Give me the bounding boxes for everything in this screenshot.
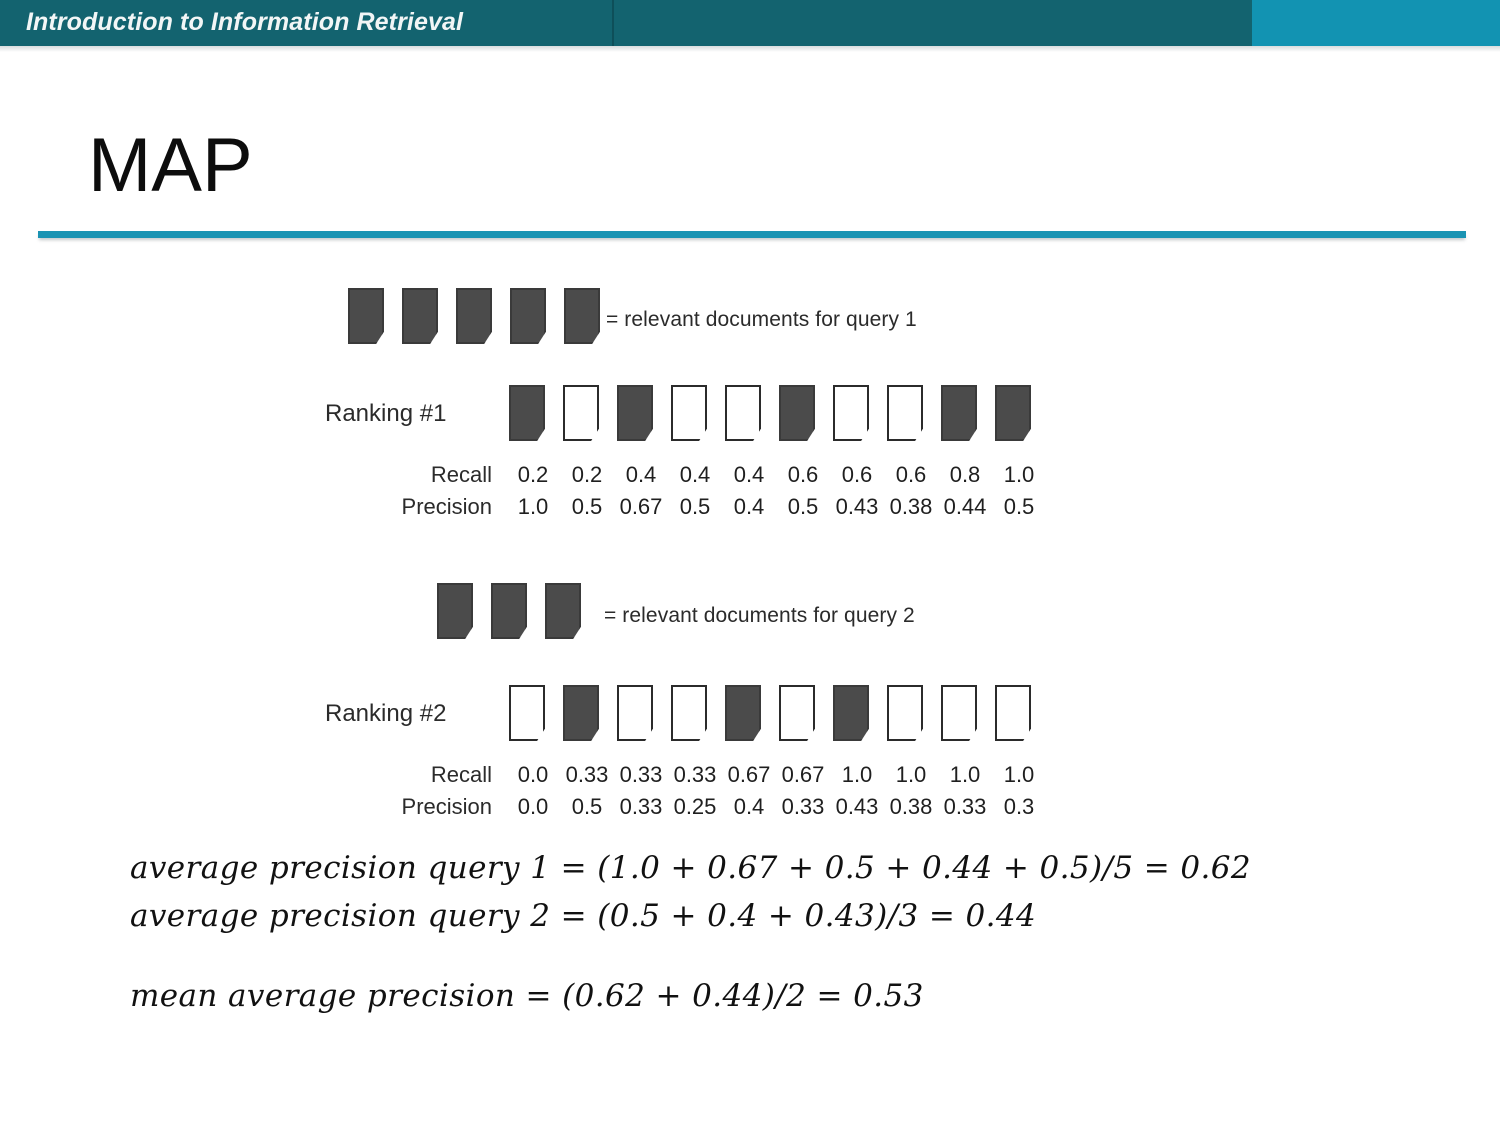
ranking1-recall-label: Recall — [310, 462, 506, 488]
ranking1-precision-value: 0.67 — [614, 494, 668, 520]
ranking1-recall-value: 0.2 — [560, 462, 614, 488]
relevant-document-icon — [437, 583, 473, 639]
ranked-document-icon-empty — [887, 685, 923, 741]
ranking2-precision-value: 0.25 — [668, 794, 722, 820]
ranking2-precision-value: 0.33 — [938, 794, 992, 820]
ranking1-precision-value: 0.38 — [884, 494, 938, 520]
ranking2-label: Ranking #2 — [325, 700, 446, 728]
ranking2-recall-value: 1.0 — [938, 762, 992, 788]
ranking1-precision-value: 0.5 — [560, 494, 614, 520]
ranking2-recall-row: Recall 0.00.330.330.330.670.671.01.01.01… — [310, 762, 1046, 788]
ranking1-recall-value: 0.6 — [830, 462, 884, 488]
ranked-document-icon-empty — [671, 385, 707, 441]
ranking2-recall-value: 0.67 — [722, 762, 776, 788]
ranking1-precision-value: 0.5 — [992, 494, 1046, 520]
relevant-document-icon — [456, 288, 492, 344]
ranking2-precision-value: 0.33 — [614, 794, 668, 820]
ranked-document-icon-filled — [995, 385, 1031, 441]
ranked-document-icon-empty — [779, 685, 815, 741]
formula-average-precision-query1: average precision query 1 = (1.0 + 0.67 … — [130, 850, 1251, 886]
ranking1-recall-value: 0.4 — [614, 462, 668, 488]
ranked-document-icon-empty — [671, 685, 707, 741]
ranking1-recall-row: Recall 0.20.20.40.40.40.60.60.60.81.0 — [310, 462, 1046, 488]
formula-average-precision-query2: average precision query 2 = (0.5 + 0.4 +… — [130, 898, 1036, 934]
ranked-document-icon-empty — [941, 685, 977, 741]
ranking1-precision-value: 0.4 — [722, 494, 776, 520]
ranked-document-icon-filled — [725, 685, 761, 741]
ranking1-precision-value: 0.5 — [668, 494, 722, 520]
ranked-document-icon-filled — [563, 685, 599, 741]
ranking1-recall-value: 0.6 — [776, 462, 830, 488]
ranked-document-icon-empty — [617, 685, 653, 741]
ranking2-recall-value: 0.33 — [614, 762, 668, 788]
ranking1-precision-row: Precision 1.00.50.670.50.40.50.430.380.4… — [310, 494, 1046, 520]
relevant-document-icon — [564, 288, 600, 344]
ranking2-precision-row: Precision 0.00.50.330.250.40.330.430.380… — [310, 794, 1046, 820]
legend-query2-documents — [437, 583, 581, 639]
ranking2-recall-value: 0.67 — [776, 762, 830, 788]
ranking1-precision-label: Precision — [310, 494, 506, 520]
relevant-document-icon — [402, 288, 438, 344]
ranked-document-icon-filled — [941, 385, 977, 441]
ranking1-recall-value: 0.2 — [506, 462, 560, 488]
ranking2-recall-value: 0.33 — [668, 762, 722, 788]
ranking2-precision-value: 0.0 — [506, 794, 560, 820]
ranking2-recall-value: 0.33 — [560, 762, 614, 788]
formula-mean-average-precision: mean average precision = (0.62 + 0.44)/2… — [130, 978, 924, 1014]
ranking1-recall-value: 0.4 — [722, 462, 776, 488]
relevant-document-icon — [545, 583, 581, 639]
ranking2-precision-value: 0.3 — [992, 794, 1046, 820]
ranking1-precision-value: 1.0 — [506, 494, 560, 520]
ranking1-precision-value: 0.43 — [830, 494, 884, 520]
relevant-document-icon — [491, 583, 527, 639]
ranked-document-icon-filled — [779, 385, 815, 441]
ranking2-precision-value: 0.4 — [722, 794, 776, 820]
ranking1-precision-value: 0.44 — [938, 494, 992, 520]
ranking2-precision-value: 0.38 — [884, 794, 938, 820]
ranking2-recall-value: 1.0 — [830, 762, 884, 788]
legend-query1-label: = relevant documents for query 1 — [606, 308, 917, 332]
ranking1-recall-value: 0.6 — [884, 462, 938, 488]
ranked-document-icon-filled — [617, 385, 653, 441]
ranking1-recall-value: 0.8 — [938, 462, 992, 488]
ranked-document-icon-filled — [509, 385, 545, 441]
ranking2-precision-label: Precision — [310, 794, 506, 820]
map-figure: = relevant documents for query 1 Ranking… — [0, 0, 1500, 1125]
ranked-document-icon-empty — [887, 385, 923, 441]
ranking1-label: Ranking #1 — [325, 400, 446, 428]
ranking2-documents — [509, 685, 1031, 741]
ranking1-documents — [509, 385, 1031, 441]
ranking2-precision-value: 0.5 — [560, 794, 614, 820]
ranked-document-icon-empty — [563, 385, 599, 441]
ranking1-recall-value: 1.0 — [992, 462, 1046, 488]
ranking2-recall-label: Recall — [310, 762, 506, 788]
ranking1-precision-value: 0.5 — [776, 494, 830, 520]
ranked-document-icon-empty — [833, 385, 869, 441]
ranking1-recall-value: 0.4 — [668, 462, 722, 488]
ranking2-recall-value: 0.0 — [506, 762, 560, 788]
ranked-document-icon-empty — [995, 685, 1031, 741]
ranked-document-icon-empty — [725, 385, 761, 441]
ranking2-precision-value: 0.33 — [776, 794, 830, 820]
ranked-document-icon-filled — [833, 685, 869, 741]
ranking2-recall-value: 1.0 — [884, 762, 938, 788]
ranking2-recall-value: 1.0 — [992, 762, 1046, 788]
ranked-document-icon-empty — [509, 685, 545, 741]
relevant-document-icon — [348, 288, 384, 344]
legend-query1-documents — [348, 288, 600, 344]
relevant-document-icon — [510, 288, 546, 344]
ranking2-precision-value: 0.43 — [830, 794, 884, 820]
legend-query2-label: = relevant documents for query 2 — [604, 604, 915, 628]
